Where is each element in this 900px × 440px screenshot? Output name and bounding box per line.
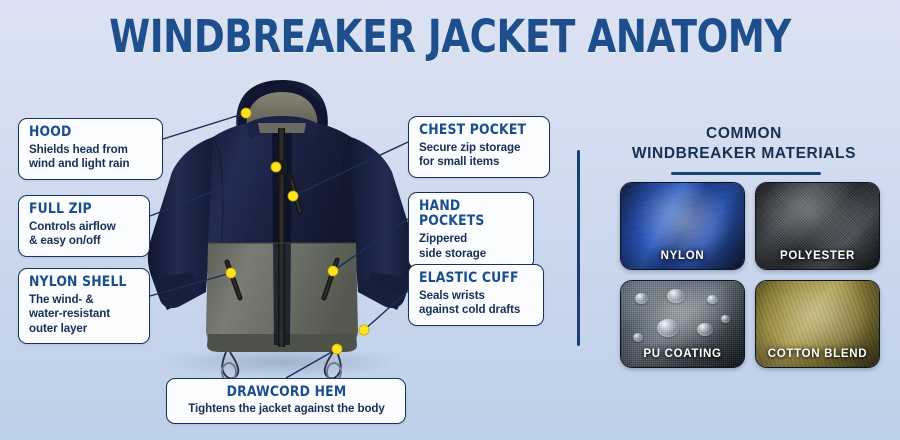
callout-heading: DRAWCORD HEM [182, 385, 390, 400]
material-label: NYLON [621, 250, 744, 262]
marker-hand-pocket-left [226, 268, 236, 278]
marker-hood [241, 108, 251, 118]
callout-heading: HOOD [29, 125, 147, 140]
callout-heading: NYLON SHELL [29, 275, 134, 290]
materials-heading-line-2: WINDBREAKER MATERIALS [596, 144, 892, 164]
marker-full-zip [271, 162, 281, 172]
material-label: COTTON BLEND [756, 348, 879, 360]
callout-body: The wind- & water-resistant outer layer [29, 293, 140, 335]
callout-body: Shields head from wind and light rain [29, 143, 153, 171]
materials-heading-line-1: COMMON [596, 124, 892, 144]
marker-hand-pocket-right [328, 266, 338, 276]
marker-elastic-cuff [359, 325, 369, 335]
callout-heading: ELASTIC CUFF [419, 271, 528, 286]
callout-body: Zippered side storage [419, 232, 524, 260]
callout-body: Tightens the jacket against the body [177, 402, 396, 416]
callout-chest-pocket[interactable]: CHEST POCKET Secure zip storage for smal… [408, 116, 550, 178]
callout-elastic-cuff[interactable]: ELASTIC CUFF Seals wrists against cold d… [408, 264, 544, 326]
callout-drawcord-hem[interactable]: DRAWCORD HEM Tightens the jacket against… [166, 378, 406, 424]
callout-hand-pockets[interactable]: HAND POCKETS Zippered side storage [408, 192, 534, 269]
callout-hood[interactable]: HOOD Shields head from wind and light ra… [18, 118, 163, 180]
material-tile-nylon[interactable]: NYLON [620, 182, 745, 270]
callout-nylon-shell[interactable]: NYLON SHELL The wind- & water-resistant … [18, 268, 150, 344]
materials-heading-underline [671, 172, 821, 175]
callout-body: Controls airflow & easy on/off [29, 220, 140, 248]
materials-panel-heading: COMMON WINDBREAKER MATERIALS [596, 124, 892, 165]
marker-drawcord-hem [332, 344, 342, 354]
callout-heading: CHEST POCKET [419, 123, 534, 138]
callout-body: Secure zip storage for small items [419, 141, 540, 169]
callout-body: Seals wrists against cold drafts [419, 289, 534, 317]
material-tile-polyester[interactable]: POLYESTER [755, 182, 880, 270]
callout-heading: HAND POCKETS [419, 199, 519, 229]
panel-divider [577, 150, 580, 346]
callout-full-zip[interactable]: FULL ZIP Controls airflow & easy on/off [18, 195, 150, 257]
callout-heading: FULL ZIP [29, 202, 134, 217]
marker-chest-pocket [288, 191, 298, 201]
infographic-canvas: WINDBREAKER JACKET ANATOMY [0, 0, 900, 440]
material-label: POLYESTER [756, 250, 879, 262]
material-tile-cotton-blend[interactable]: COTTON BLEND [755, 280, 880, 368]
material-tile-pu-coating[interactable]: PU COATING [620, 280, 745, 368]
material-label: PU COATING [621, 348, 744, 360]
